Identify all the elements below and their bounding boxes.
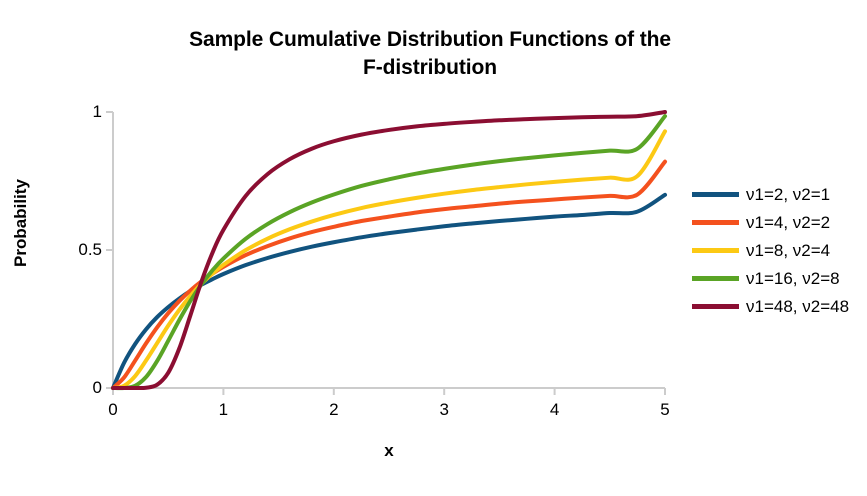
legend-swatch-icon — [692, 192, 739, 197]
legend-swatch-icon — [692, 276, 739, 281]
legend-swatch-icon — [692, 220, 739, 225]
legend-swatch-icon — [692, 248, 739, 253]
chart-figure: Sample Cumulative Distribution Functions… — [0, 0, 867, 496]
y-axis-ticks — [106, 112, 113, 388]
legend-item[interactable]: ν1=4, ν2=2 — [692, 208, 849, 236]
x-axis-ticks — [113, 388, 665, 395]
legend-item-label: ν1=16, ν2=8 — [746, 270, 840, 287]
data-line-4 — [113, 116, 665, 388]
y-tick-label: 0 — [42, 378, 102, 398]
y-axis-title: Probability — [11, 163, 31, 283]
data-line-2 — [113, 162, 665, 388]
chart-legend: ν1=2, ν2=1ν1=4, ν2=2ν1=8, ν2=4ν1=16, ν2=… — [692, 180, 849, 320]
x-tick-label: 2 — [314, 400, 354, 420]
legend-swatch-icon — [692, 304, 739, 309]
x-tick-label: 5 — [645, 400, 685, 420]
legend-item-label: ν1=8, ν2=4 — [746, 242, 830, 259]
legend-item[interactable]: ν1=16, ν2=8 — [692, 264, 849, 292]
x-axis-title: x — [113, 441, 665, 461]
data-series-group — [113, 112, 665, 388]
x-tick-label: 0 — [93, 400, 133, 420]
data-line-3 — [113, 131, 665, 388]
legend-item[interactable]: ν1=48, ν2=48 — [692, 292, 849, 320]
legend-item-label: ν1=2, ν2=1 — [746, 186, 830, 203]
legend-item-label: ν1=4, ν2=2 — [746, 214, 830, 231]
y-tick-label: 0.5 — [42, 240, 102, 260]
x-tick-label: 3 — [424, 400, 464, 420]
x-tick-label: 4 — [535, 400, 575, 420]
legend-item-label: ν1=48, ν2=48 — [746, 298, 849, 315]
legend-item[interactable]: ν1=2, ν2=1 — [692, 180, 849, 208]
legend-item[interactable]: ν1=8, ν2=4 — [692, 236, 849, 264]
x-tick-label: 1 — [203, 400, 243, 420]
y-tick-label: 1 — [42, 102, 102, 122]
